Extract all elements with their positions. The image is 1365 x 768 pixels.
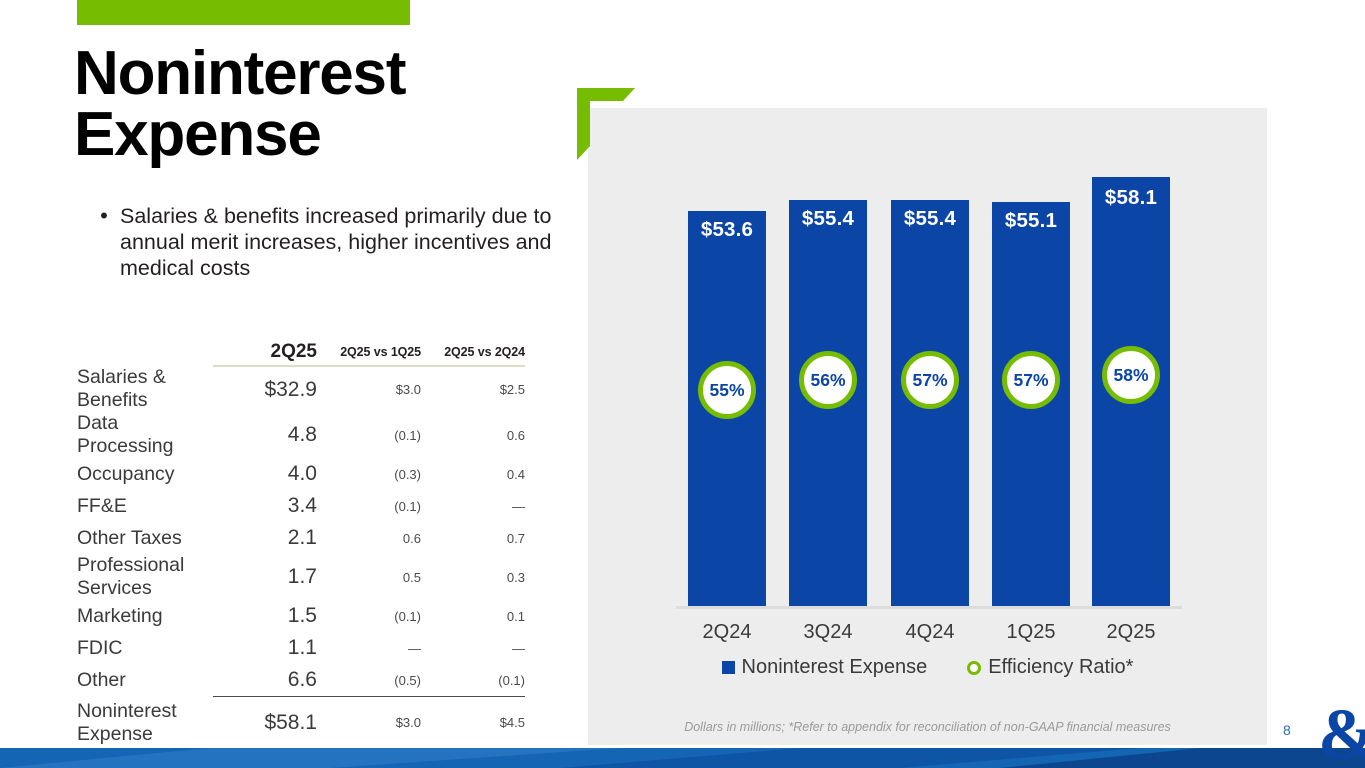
row-delta1: (0.3)	[317, 458, 421, 490]
legend-item-noninterest-expense: Noninterest Expense	[722, 656, 928, 679]
table-total-row: Noninterest Expense $58.1 $3.0 $4.5	[77, 697, 525, 746]
ring-marker-icon	[967, 661, 981, 675]
bar-value-2q25: $58.1	[1092, 186, 1170, 210]
row-main: 1.1	[213, 632, 317, 664]
total-delta2: $4.5	[421, 697, 525, 746]
row-main: 1.7	[213, 554, 317, 600]
efficiency-ratio-2q25: 58%	[1102, 346, 1160, 404]
row-label: Data Processing	[77, 412, 213, 458]
bar-value-1q25: $55.1	[992, 209, 1070, 233]
row-main: $32.9	[213, 366, 317, 412]
chart-footnote: Dollars in millions; *Refer to appendix …	[588, 720, 1267, 734]
total-label: Noninterest Expense	[77, 697, 213, 746]
x-axis-label-2q24: 2Q24	[672, 621, 782, 644]
legend-item-efficiency-ratio: Efficiency Ratio*	[967, 656, 1133, 679]
table-row: Data Processing 4.8 (0.1) 0.6	[77, 412, 525, 458]
page-title-line1: Noninterest	[74, 44, 594, 105]
square-marker-icon	[722, 661, 735, 674]
row-delta2: 0.7	[421, 522, 525, 554]
row-delta1: (0.1)	[317, 600, 421, 632]
expense-table: 2Q25 2Q25 vs 1Q25 2Q25 vs 2Q24 Salaries …	[77, 341, 527, 746]
table-row: Other Taxes 2.1 0.6 0.7	[77, 522, 525, 554]
row-label: Professional Services	[77, 554, 213, 600]
ampersand-logo-icon: &	[1296, 700, 1365, 768]
row-label: FF&E	[77, 490, 213, 522]
x-axis-label-4q24: 4Q24	[875, 621, 985, 644]
x-axis-label-2q25: 2Q25	[1076, 621, 1186, 644]
table-header-vs-2q24: 2Q25 vs 2Q24	[421, 341, 525, 363]
table-header-label	[77, 341, 213, 363]
x-axis-label-3q24: 3Q24	[773, 621, 883, 644]
title-accent-bar	[77, 0, 410, 25]
row-delta2: $2.5	[421, 366, 525, 412]
row-delta1: 0.6	[317, 522, 421, 554]
list-item: • Salaries & benefits increased primaril…	[88, 203, 558, 282]
chart-legend: Noninterest Expense Efficiency Ratio*	[588, 656, 1267, 679]
row-label: Other Taxes	[77, 522, 213, 554]
row-delta1: (0.1)	[317, 412, 421, 458]
table-row: FDIC 1.1 — —	[77, 632, 525, 664]
row-main: 4.8	[213, 412, 317, 458]
row-delta2: 0.6	[421, 412, 525, 458]
table-header-vs-1q25: 2Q25 vs 1Q25	[317, 341, 421, 363]
row-delta1: —	[317, 632, 421, 664]
slide: Noninterest Expense • Salaries & benefit…	[0, 0, 1365, 768]
table-row: Marketing 1.5 (0.1) 0.1	[77, 600, 525, 632]
row-delta2: (0.1)	[421, 664, 525, 697]
table-header-2q25: 2Q25	[213, 341, 317, 363]
row-delta1: (0.5)	[317, 664, 421, 697]
efficiency-ratio-2q24: 55%	[698, 361, 756, 419]
row-delta2: 0.4	[421, 458, 525, 490]
chart-axis-line	[676, 606, 1182, 609]
efficiency-ratio-1q25: 57%	[1002, 351, 1060, 409]
row-delta1: (0.1)	[317, 490, 421, 522]
x-axis-label-1q25: 1Q25	[976, 621, 1086, 644]
row-label: Other	[77, 664, 213, 697]
row-label: Marketing	[77, 600, 213, 632]
footer-band	[0, 748, 1365, 768]
row-delta1: $3.0	[317, 366, 421, 412]
table-row: Other 6.6 (0.5) (0.1)	[77, 664, 525, 697]
row-main: 1.5	[213, 600, 317, 632]
bar-value-4q24: $55.4	[891, 207, 969, 231]
table-row: Professional Services 1.7 0.5 0.3	[77, 554, 525, 600]
row-delta1: 0.5	[317, 554, 421, 600]
total-delta1: $3.0	[317, 697, 421, 746]
efficiency-ratio-4q24: 57%	[901, 351, 959, 409]
row-main: 2.1	[213, 522, 317, 554]
expense-chart: $53.6 $55.4 $55.4 $55.1 $58.1 55% 56% 57…	[588, 108, 1267, 745]
row-label: FDIC	[77, 632, 213, 664]
row-label: Occupancy	[77, 458, 213, 490]
row-main: 3.4	[213, 490, 317, 522]
table-row: Salaries & Benefits $32.9 $3.0 $2.5	[77, 366, 525, 412]
legend-label: Noninterest Expense	[742, 656, 928, 679]
page-title: Noninterest Expense	[74, 44, 594, 166]
row-main: 6.6	[213, 664, 317, 697]
bullet-list: • Salaries & benefits increased primaril…	[88, 203, 558, 282]
bullet-text: Salaries & benefits increased primarily …	[120, 203, 558, 282]
row-delta2: 0.3	[421, 554, 525, 600]
legend-label: Efficiency Ratio*	[988, 656, 1133, 679]
total-main: $58.1	[213, 697, 317, 746]
table-header-row: 2Q25 2Q25 vs 1Q25 2Q25 vs 2Q24	[77, 341, 525, 363]
efficiency-ratio-3q24: 56%	[799, 351, 857, 409]
svg-text:&: &	[1318, 700, 1365, 768]
table-row: Occupancy 4.0 (0.3) 0.4	[77, 458, 525, 490]
page-number: 8	[1283, 722, 1291, 738]
page-title-line2: Expense	[74, 105, 594, 166]
row-delta2: 0.1	[421, 600, 525, 632]
bar-value-2q24: $53.6	[688, 218, 766, 242]
row-main: 4.0	[213, 458, 317, 490]
table-row: FF&E 3.4 (0.1) —	[77, 490, 525, 522]
row-delta2: —	[421, 490, 525, 522]
row-delta2: —	[421, 632, 525, 664]
row-label: Salaries & Benefits	[77, 366, 213, 412]
bullet-dot-icon: •	[88, 203, 120, 229]
bar-value-3q24: $55.4	[789, 207, 867, 231]
